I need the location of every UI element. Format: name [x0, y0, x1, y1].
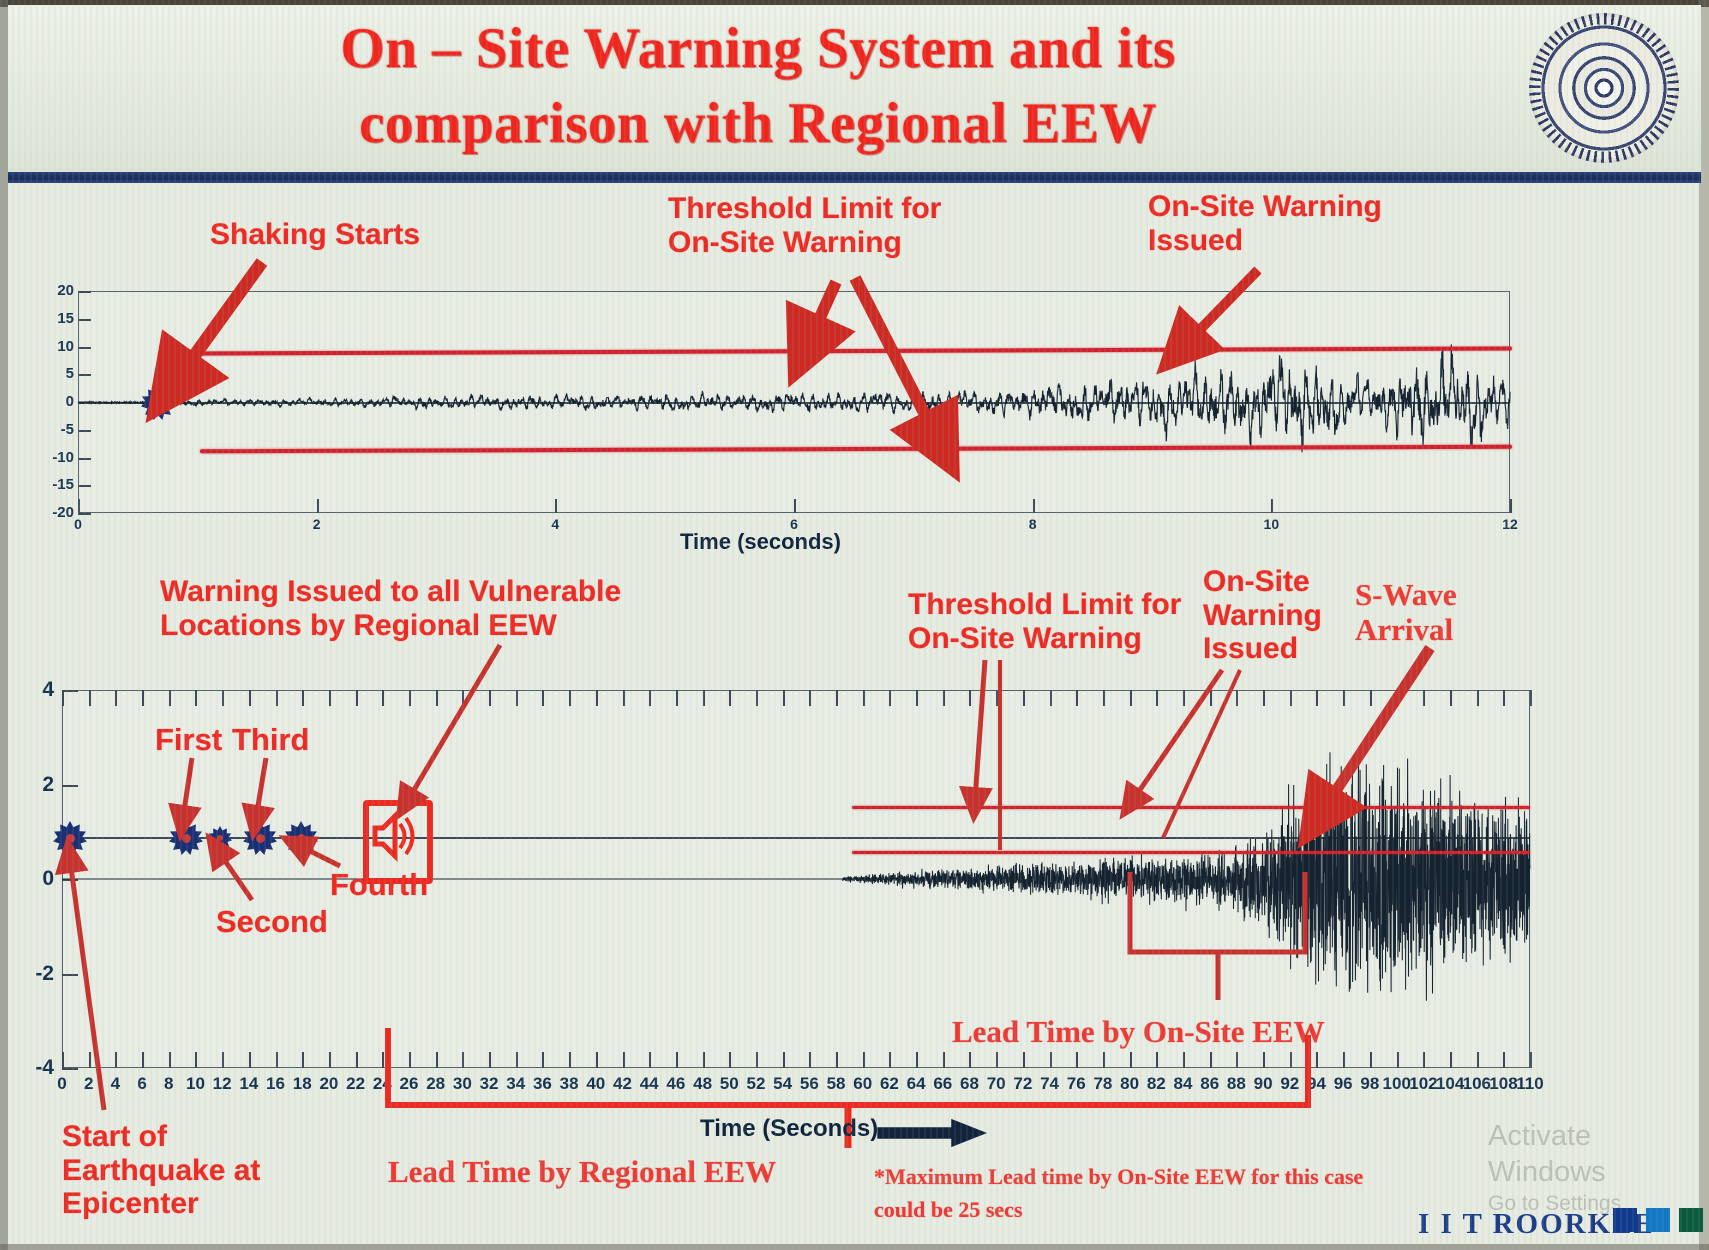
top-chart-y-tick [78, 347, 91, 349]
bottom-chart-x-tick-label: 44 [635, 1074, 663, 1094]
bottom-chart-x-tick [1397, 1052, 1399, 1068]
bottom-chart-x-tick [703, 1052, 705, 1068]
bottom-chart-x-tick-label: 60 [849, 1074, 877, 1094]
bottom-chart-x-tick-top [356, 690, 358, 706]
iit-roorkee-seal-icon [1529, 13, 1679, 163]
bottom-chart-x-tick-top [1210, 690, 1212, 706]
bottom-chart-x-tick-label: 16 [262, 1074, 290, 1094]
bottom-chart-x-tick-label: 18 [288, 1074, 316, 1094]
bottom-chart-x-tick-label: 12 [208, 1074, 236, 1094]
bottom-chart-x-tick-label: 24 [368, 1074, 396, 1094]
bottom-chart-x-tick [462, 1052, 464, 1068]
bottom-chart-x-tick-top [569, 690, 571, 706]
top-chart-zero-line [78, 402, 1510, 404]
annotation-threshold-limit-bottom: Threshold Limit for On-Site Warning [908, 588, 1181, 655]
top-chart-x-tick-label: 10 [1259, 516, 1283, 532]
annotation-fourth: Fourth [330, 868, 428, 903]
annotation-shaking-starts: Shaking Starts [210, 218, 420, 252]
bottom-chart-x-tick-label: 50 [715, 1074, 743, 1094]
bottom-chart-y-tick [62, 690, 78, 692]
annotation-on-site-warning-issued-bottom: On-Site Warning Issued [1203, 565, 1322, 666]
bottom-chart-x-tick-label: 8 [155, 1074, 183, 1094]
bottom-chart-x-tick-top [596, 690, 598, 706]
bottom-chart-x-tick [729, 1052, 731, 1068]
bottom-chart-x-tick-label: 4 [101, 1074, 129, 1094]
annotation-lead-time-regional: Lead Time by Regional EEW [388, 1155, 776, 1190]
bottom-chart-x-tick-label: 34 [502, 1074, 530, 1094]
bottom-chart-x-tick-top [1050, 690, 1052, 706]
bottom-chart-x-tick-top [916, 690, 918, 706]
slide-edge-right [1699, 0, 1709, 1250]
top-chart-y-tick [78, 513, 91, 515]
bottom-chart-y-tick-label: 2 [18, 773, 54, 797]
top-chart-y-tick [78, 458, 91, 460]
bottom-chart-x-tick [1156, 1052, 1158, 1068]
bottom-chart-x-tick [996, 1052, 998, 1068]
bottom-chart-x-tick [863, 1052, 865, 1068]
bottom-chart-x-tick [623, 1052, 625, 1068]
bottom-chart-x-tick [783, 1052, 785, 1068]
top-chart-y-tick-label: -5 [34, 421, 74, 438]
bottom-chart-x-tick-top [62, 690, 64, 706]
bottom-chart-y-tick [62, 1068, 78, 1070]
top-chart-x-tick [555, 499, 557, 513]
top-chart-y-tick [78, 374, 91, 376]
bottom-chart-x-tick-label: 6 [128, 1074, 156, 1094]
bottom-chart-x-tick-top [996, 690, 998, 706]
bottom-chart-x-tick-label: 100 [1383, 1074, 1411, 1094]
bottom-chart-x-tick-label: 22 [342, 1074, 370, 1094]
bottom-chart-x-tick-top [863, 690, 865, 706]
bottom-chart-x-tick-label: 94 [1302, 1074, 1330, 1094]
top-chart-y-tick [78, 485, 91, 487]
bottom-chart-x-tick-label: 32 [475, 1074, 503, 1094]
bottom-chart-x-tick [142, 1052, 144, 1068]
bottom-chart-x-tick-top [1343, 690, 1345, 706]
bottom-chart-y-tick [62, 879, 78, 881]
bottom-chart-x-tick-label: 28 [422, 1074, 450, 1094]
top-chart-y-tick-label: 20 [34, 282, 74, 299]
bottom-chart-x-tick [1263, 1052, 1265, 1068]
bottom-chart-x-tick-label: 92 [1276, 1074, 1304, 1094]
bottom-chart-x-tick-top [1076, 690, 1078, 706]
bottom-chart-x-tick-label: 36 [528, 1074, 556, 1094]
bottom-chart-x-tick-label: 26 [395, 1074, 423, 1094]
top-chart-x-tick-label: 4 [543, 516, 567, 532]
presentation-slide: On – Site Warning System and its compari… [0, 0, 1709, 1250]
bottom-chart-x-tick-top [889, 690, 891, 706]
slide-edge-left [0, 0, 8, 1250]
bottom-chart-x-tick-label: 84 [1169, 1074, 1197, 1094]
bottom-chart-x-tick [596, 1052, 598, 1068]
bottom-chart-x-tick-top [89, 690, 91, 706]
bottom-chart-x-tick-top [1290, 690, 1292, 706]
bottom-chart-x-tick-top [276, 690, 278, 706]
annotation-second: Second [216, 905, 328, 940]
bottom-chart-x-tick [676, 1052, 678, 1068]
bottom-chart-x-tick [756, 1052, 758, 1068]
top-chart-y-tick-label: -10 [34, 449, 74, 466]
bottom-chart-x-tick [1210, 1052, 1212, 1068]
bottom-chart-x-tick-label: 72 [1009, 1074, 1037, 1094]
bottom-chart-x-tick [276, 1052, 278, 1068]
bottom-chart-x-tick [1183, 1052, 1185, 1068]
top-chart-x-axis-title: Time (seconds) [680, 529, 841, 555]
bottom-chart-x-tick-top [542, 690, 544, 706]
bottom-chart-lower-threshold [852, 851, 1530, 854]
bottom-chart-x-tick [356, 1052, 358, 1068]
bottom-chart-x-tick [1076, 1052, 1078, 1068]
bottom-chart-x-tick-label: 62 [875, 1074, 903, 1094]
annotation-threshold-limit-top: Threshold Limit for On-Site Warning [668, 192, 941, 259]
bottom-chart-x-tick-label: 46 [662, 1074, 690, 1094]
bottom-chart-x-tick-label: 104 [1436, 1074, 1464, 1094]
bottom-chart-x-tick [916, 1052, 918, 1068]
bottom-chart-x-tick-label: 64 [902, 1074, 930, 1094]
annotation-start-of-earthquake: Start of Earthquake at Epicenter [62, 1120, 260, 1221]
bottom-chart-x-tick-label: 14 [235, 1074, 263, 1094]
bottom-chart-x-tick-top [115, 690, 117, 706]
bottom-chart-x-tick-top [1316, 690, 1318, 706]
title-line-2: comparison with Regional EEW [158, 86, 1358, 161]
bottom-chart-x-tick-label: 48 [689, 1074, 717, 1094]
bottom-chart-x-tick-label: 88 [1222, 1074, 1250, 1094]
bottom-chart-x-tick [1503, 1052, 1505, 1068]
windows-activation-watermark: Activate Windows Go to Settings [1488, 1118, 1709, 1217]
bottom-chart-x-tick-label: 66 [929, 1074, 957, 1094]
bottom-chart-x-tick-top [1477, 690, 1479, 706]
bottom-chart-x-tick-label: 108 [1489, 1074, 1517, 1094]
top-chart-x-tick-label: 0 [66, 516, 90, 532]
top-chart-y-tick-label: 0 [34, 393, 74, 410]
bottom-chart-x-tick-top [1103, 690, 1105, 706]
bottom-chart-zero-line [62, 837, 1530, 839]
top-chart-x-tick [317, 499, 319, 513]
bottom-chart-x-tick-label: 20 [315, 1074, 343, 1094]
bottom-chart-x-tick [1477, 1052, 1479, 1068]
bottom-chart-x-tick-label: 42 [609, 1074, 637, 1094]
bottom-chart-x-tick-top [1503, 690, 1505, 706]
annotation-s-wave-arrival: S-Wave Arrival [1355, 578, 1457, 647]
bottom-chart-x-tick-label: 30 [448, 1074, 476, 1094]
bottom-chart-x-tick-top [783, 690, 785, 706]
top-chart-x-tick-label: 8 [1021, 516, 1045, 532]
top-chart-y-tick [78, 319, 91, 321]
top-chart-x-tick [794, 499, 796, 513]
bottom-chart-x-tick [1236, 1052, 1238, 1068]
bottom-chart-x-tick [302, 1052, 304, 1068]
annotation-on-site-warning-issued-top: On-Site Warning Issued [1148, 190, 1382, 257]
bottom-chart-x-tick [1103, 1052, 1105, 1068]
bottom-chart-y-tick [62, 785, 78, 787]
top-chart-y-tick [78, 430, 91, 432]
bottom-chart-x-tick [62, 1052, 64, 1068]
bottom-chart-x-tick [1370, 1052, 1372, 1068]
bottom-chart-y-tick [62, 974, 78, 976]
bottom-chart-x-tick-top [1370, 690, 1372, 706]
title-line-1: On – Site Warning System and its [158, 11, 1358, 86]
bottom-chart-x-tick-top [1397, 690, 1399, 706]
annotation-warning-issued-regional: Warning Issued to all Vulnerable Locatio… [160, 575, 621, 642]
bottom-chart-x-tick-top [462, 690, 464, 706]
bottom-chart-x-tick-label: 76 [1062, 1074, 1090, 1094]
bottom-chart-x-tick-label: 70 [982, 1074, 1010, 1094]
top-chart-y-tick-label: -15 [34, 476, 74, 493]
bottom-chart-x-tick-top [969, 690, 971, 706]
bottom-chart-x-tick-top [1423, 690, 1425, 706]
top-chart-x-tick [78, 499, 80, 513]
bottom-chart-x-tick-label: 106 [1463, 1074, 1491, 1094]
bottom-chart-x-tick-label: 38 [555, 1074, 583, 1094]
bottom-chart-y-tick-label: 4 [18, 678, 54, 702]
bottom-chart-x-tick-top [1023, 690, 1025, 706]
bottom-chart-upper-threshold [852, 806, 1530, 809]
bottom-chart-x-tick-label: 82 [1142, 1074, 1170, 1094]
footer-square-blue-dark [1613, 1208, 1637, 1232]
bottom-chart-x-tick [569, 1052, 571, 1068]
bottom-chart-x-tick [436, 1052, 438, 1068]
bottom-chart-x-tick-top [249, 690, 251, 706]
watermark-line-1: Activate Windows [1488, 1118, 1709, 1191]
bottom-chart-x-tick-label: 96 [1329, 1074, 1357, 1094]
bottom-chart-x-tick-top [943, 690, 945, 706]
bottom-chart-x-tick-top [409, 690, 411, 706]
bottom-chart-x-tick [329, 1052, 331, 1068]
bottom-chart-x-tick [115, 1052, 117, 1068]
bottom-chart-x-tick-top [222, 690, 224, 706]
bottom-chart-x-tick-label: 56 [795, 1074, 823, 1094]
slide-header: On – Site Warning System and its compari… [8, 5, 1701, 173]
seal-outer-ring [1529, 13, 1679, 163]
top-chart-y-tick [78, 291, 91, 293]
bottom-chart-x-tick-top [1530, 690, 1532, 706]
annotation-lead-time-on-site: Lead Time by On-Site EEW [952, 1015, 1325, 1050]
header-divider [8, 172, 1701, 183]
bottom-chart-x-tick [409, 1052, 411, 1068]
bottom-chart-x-tick-top [436, 690, 438, 706]
bottom-chart-x-tick-label: 2 [75, 1074, 103, 1094]
footer-square-blue-light [1646, 1208, 1670, 1232]
top-chart-y-tick-label: 15 [34, 310, 74, 327]
annotation-third: Third [232, 723, 310, 758]
bottom-chart-x-tick [169, 1052, 171, 1068]
bottom-chart-x-tick-label: 0 [48, 1074, 76, 1094]
bottom-chart-x-tick [649, 1052, 651, 1068]
bottom-chart-x-tick-top [489, 690, 491, 706]
bottom-chart-x-tick-top [1236, 690, 1238, 706]
bottom-chart-x-tick [222, 1052, 224, 1068]
bottom-chart-x-tick-top [676, 690, 678, 706]
bottom-chart-x-tick [1290, 1052, 1292, 1068]
annotation-footnote: *Maximum Lead time by On-Site EEW for th… [874, 1160, 1363, 1226]
bottom-chart-x-tick-label: 98 [1356, 1074, 1384, 1094]
top-chart-y-tick-label: 10 [34, 338, 74, 355]
bottom-chart-x-tick [1050, 1052, 1052, 1068]
bottom-chart-x-tick-label: 74 [1036, 1074, 1064, 1094]
annotation-first: First [155, 723, 222, 758]
bottom-chart-x-tick-top [623, 690, 625, 706]
bottom-chart-x-tick [1023, 1052, 1025, 1068]
bottom-chart-x-tick-label: 102 [1409, 1074, 1437, 1094]
bottom-chart-x-tick-top [836, 690, 838, 706]
bottom-chart-x-tick-top [809, 690, 811, 706]
top-chart-x-tick [1033, 499, 1035, 513]
bottom-chart-x-tick [1130, 1052, 1132, 1068]
bottom-chart-x-tick-top [729, 690, 731, 706]
bottom-chart-x-tick [489, 1052, 491, 1068]
bottom-chart-y-tick-label: -2 [18, 962, 54, 986]
bottom-chart-x-tick [943, 1052, 945, 1068]
bottom-chart-x-tick-top [649, 690, 651, 706]
bottom-chart-x-tick-label: 86 [1196, 1074, 1224, 1094]
bottom-chart-x-tick [249, 1052, 251, 1068]
top-chart-x-tick-label: 2 [305, 516, 329, 532]
bottom-chart-x-tick-label: 90 [1249, 1074, 1277, 1094]
bottom-chart-x-tick [1423, 1052, 1425, 1068]
bottom-chart-x-tick-top [329, 690, 331, 706]
bottom-chart-x-tick [889, 1052, 891, 1068]
page-title: On – Site Warning System and its compari… [158, 11, 1358, 161]
bottom-chart-x-tick [89, 1052, 91, 1068]
bottom-chart-x-tick-label: 54 [769, 1074, 797, 1094]
bottom-chart-x-tick-top [1450, 690, 1452, 706]
bottom-chart-x-tick [1530, 1052, 1532, 1068]
bottom-chart-x-tick-label: 68 [955, 1074, 983, 1094]
bottom-chart-x-tick [542, 1052, 544, 1068]
bottom-chart-x-tick-top [382, 690, 384, 706]
bottom-chart-x-tick-top [756, 690, 758, 706]
slide-edge-bottom [0, 1244, 1709, 1250]
bottom-chart-x-tick-top [516, 690, 518, 706]
bottom-chart-x-tick-top [1130, 690, 1132, 706]
bottom-chart-x-tick-label: 80 [1116, 1074, 1144, 1094]
bottom-chart-x-tick [1316, 1052, 1318, 1068]
bottom-chart-x-tick [195, 1052, 197, 1068]
bottom-chart-x-tick-top [302, 690, 304, 706]
bottom-chart-x-tick [1450, 1052, 1452, 1068]
bottom-chart-y-tick-label: 0 [18, 867, 54, 891]
footer-square-green [1679, 1208, 1703, 1232]
bottom-chart-x-tick-label: 10 [181, 1074, 209, 1094]
top-chart-x-tick-label: 12 [1498, 516, 1522, 532]
bottom-chart-x-tick-top [1156, 690, 1158, 706]
bottom-chart-x-tick [382, 1052, 384, 1068]
bottom-chart-x-tick-label: 40 [582, 1074, 610, 1094]
bottom-chart-x-tick-top [195, 690, 197, 706]
top-chart-x-tick [1510, 499, 1512, 513]
top-chart-y-tick-label: 5 [34, 365, 74, 382]
bottom-chart-x-tick-label: 58 [822, 1074, 850, 1094]
bottom-chart-x-tick-label: 52 [742, 1074, 770, 1094]
bottom-chart-x-tick [836, 1052, 838, 1068]
bottom-chart-x-tick [809, 1052, 811, 1068]
bottom-chart-x-axis-title: Time (Seconds) [700, 1115, 878, 1143]
bottom-chart-x-tick-top [1183, 690, 1185, 706]
bottom-chart-x-tick [969, 1052, 971, 1068]
bottom-chart-x-tick-top [169, 690, 171, 706]
bottom-chart-x-tick-label: 78 [1089, 1074, 1117, 1094]
bottom-chart-x-tick [516, 1052, 518, 1068]
bottom-chart-x-tick-top [703, 690, 705, 706]
bottom-chart-x-tick-label: 110 [1516, 1074, 1544, 1094]
bottom-chart-x-tick-top [1263, 690, 1265, 706]
bottom-chart-x-tick [1343, 1052, 1345, 1068]
bottom-chart-x-tick-top [142, 690, 144, 706]
top-chart-x-tick [1271, 499, 1273, 513]
